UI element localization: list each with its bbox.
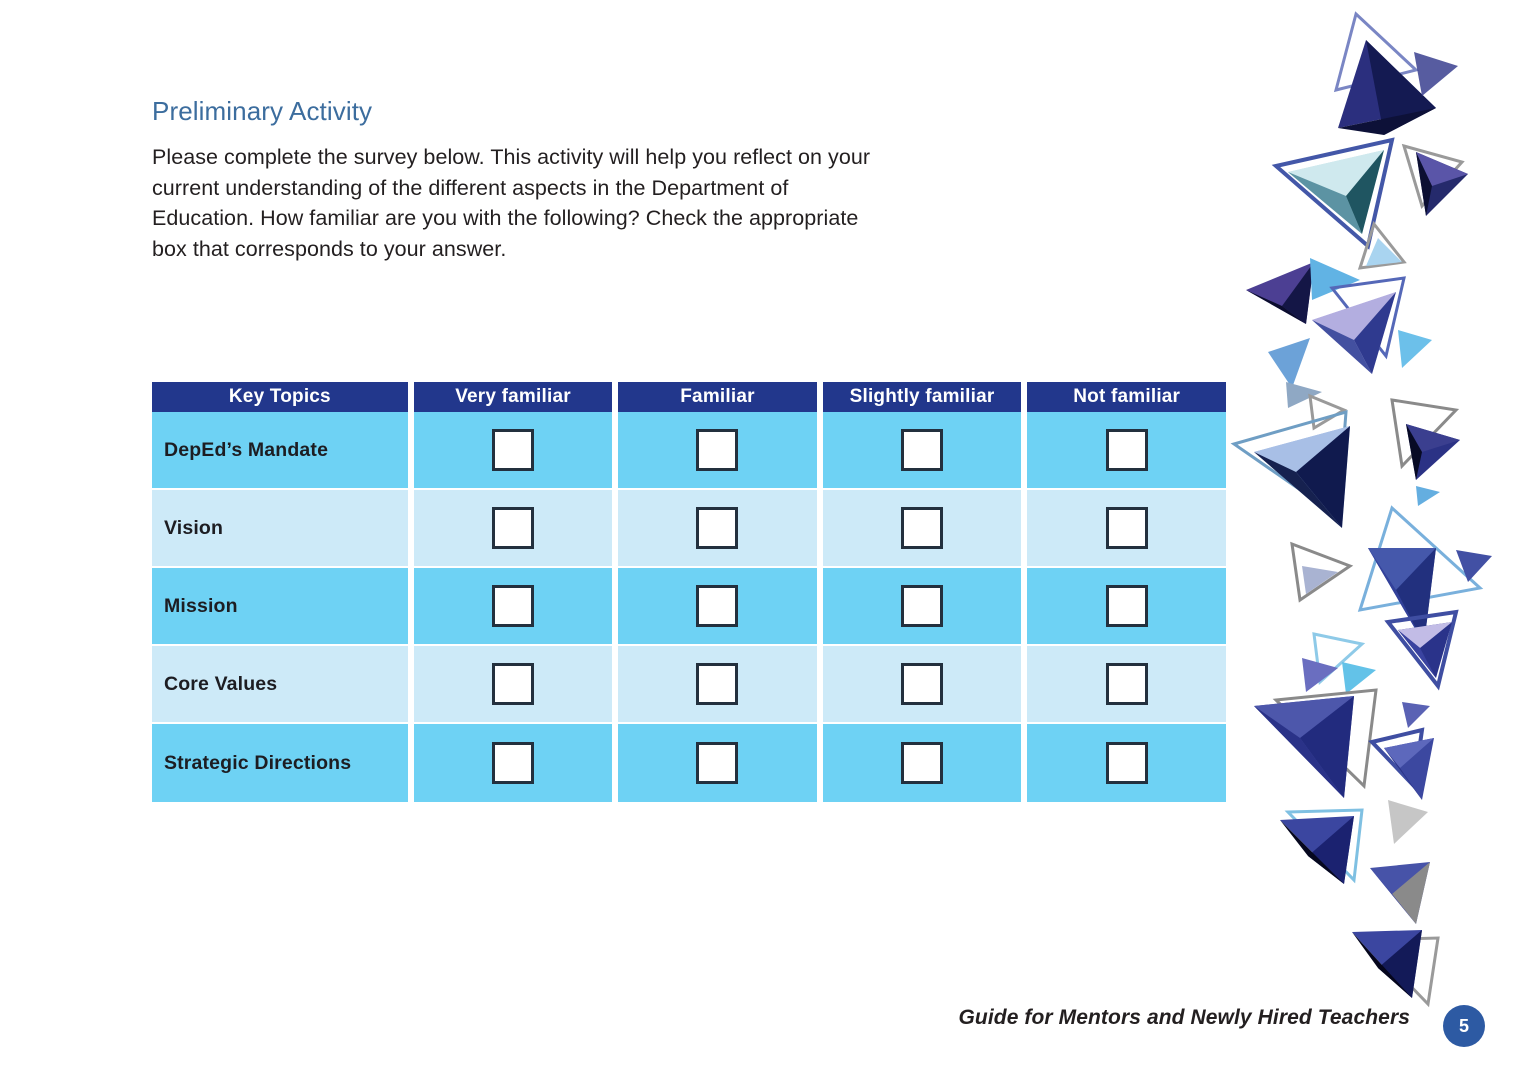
page-title: Preliminary Activity bbox=[152, 96, 372, 127]
table-row: Vision bbox=[152, 490, 1226, 568]
checkbox-icon[interactable] bbox=[1106, 429, 1148, 471]
checkbox-icon[interactable] bbox=[901, 585, 943, 627]
checkbox-cell-familiar[interactable] bbox=[618, 412, 816, 490]
row-topic-label: Strategic Directions bbox=[164, 752, 351, 774]
checkbox-icon[interactable] bbox=[492, 507, 534, 549]
checkbox-icon[interactable] bbox=[901, 507, 943, 549]
checkbox-icon[interactable] bbox=[492, 742, 534, 784]
row-topic-cell: DepEd’s Mandate bbox=[152, 412, 408, 490]
checkbox-cell-not-familiar[interactable] bbox=[1027, 568, 1226, 646]
checkbox-icon[interactable] bbox=[492, 663, 534, 705]
table-row: Mission bbox=[152, 568, 1226, 646]
checkbox-icon[interactable] bbox=[492, 585, 534, 627]
checkbox-icon[interactable] bbox=[696, 585, 738, 627]
column-header-familiar: Familiar bbox=[618, 382, 816, 412]
row-topic-label: Mission bbox=[164, 595, 238, 617]
checkbox-cell-very-familiar[interactable] bbox=[414, 490, 613, 568]
checkbox-cell-familiar[interactable] bbox=[618, 568, 816, 646]
table-row: Core Values bbox=[152, 646, 1226, 724]
column-header-not-familiar: Not familiar bbox=[1027, 382, 1226, 412]
row-topic-cell: Strategic Directions bbox=[152, 724, 408, 802]
checkbox-icon[interactable] bbox=[696, 742, 738, 784]
triangles-decoration-icon bbox=[1226, 0, 1536, 1010]
column-header-key-topics: Key Topics bbox=[152, 382, 408, 412]
checkbox-icon[interactable] bbox=[1106, 742, 1148, 784]
column-header-slightly-familiar: Slightly familiar bbox=[823, 382, 1022, 412]
row-topic-label: Vision bbox=[164, 517, 223, 539]
checkbox-cell-familiar[interactable] bbox=[618, 724, 816, 802]
checkbox-icon[interactable] bbox=[492, 429, 534, 471]
table-row: DepEd’s Mandate bbox=[152, 412, 1226, 490]
column-header-very-familiar: Very familiar bbox=[414, 382, 613, 412]
page-number-badge: 5 bbox=[1443, 1005, 1485, 1047]
checkbox-cell-not-familiar[interactable] bbox=[1027, 490, 1226, 568]
checkbox-icon[interactable] bbox=[1106, 507, 1148, 549]
checkbox-icon[interactable] bbox=[696, 663, 738, 705]
checkbox-cell-very-familiar[interactable] bbox=[414, 412, 613, 490]
row-topic-label: Core Values bbox=[164, 673, 277, 695]
checkbox-cell-slightly-familiar[interactable] bbox=[823, 646, 1022, 724]
table-row: Strategic Directions bbox=[152, 724, 1226, 802]
checkbox-cell-not-familiar[interactable] bbox=[1027, 412, 1226, 490]
checkbox-cell-very-familiar[interactable] bbox=[414, 724, 613, 802]
row-topic-cell: Vision bbox=[152, 490, 408, 568]
document-page: Preliminary Activity Please complete the… bbox=[0, 0, 1536, 1086]
checkbox-icon[interactable] bbox=[696, 507, 738, 549]
checkbox-cell-not-familiar[interactable] bbox=[1027, 724, 1226, 802]
checkbox-cell-slightly-familiar[interactable] bbox=[823, 490, 1022, 568]
checkbox-icon[interactable] bbox=[901, 742, 943, 784]
checkbox-icon[interactable] bbox=[1106, 585, 1148, 627]
checkbox-cell-very-familiar[interactable] bbox=[414, 646, 613, 724]
footer-title: Guide for Mentors and Newly Hired Teache… bbox=[958, 1006, 1410, 1030]
checkbox-icon[interactable] bbox=[901, 663, 943, 705]
table-header: Key Topics Very familiar Familiar Slight… bbox=[152, 382, 1226, 412]
row-topic-cell: Core Values bbox=[152, 646, 408, 724]
table-body: DepEd’s Mandate bbox=[152, 412, 1226, 802]
checkbox-cell-slightly-familiar[interactable] bbox=[823, 568, 1022, 646]
checkbox-icon[interactable] bbox=[696, 429, 738, 471]
checkbox-icon[interactable] bbox=[1106, 663, 1148, 705]
checkbox-cell-slightly-familiar[interactable] bbox=[823, 412, 1022, 490]
checkbox-icon[interactable] bbox=[901, 429, 943, 471]
row-topic-cell: Mission bbox=[152, 568, 408, 646]
checkbox-cell-familiar[interactable] bbox=[618, 646, 816, 724]
row-topic-label: DepEd’s Mandate bbox=[164, 439, 328, 461]
checkbox-cell-very-familiar[interactable] bbox=[414, 568, 613, 646]
checkbox-cell-slightly-familiar[interactable] bbox=[823, 724, 1022, 802]
survey-table: Key Topics Very familiar Familiar Slight… bbox=[152, 382, 1226, 802]
checkbox-cell-familiar[interactable] bbox=[618, 490, 816, 568]
instructions-paragraph: Please complete the survey below. This a… bbox=[152, 142, 872, 264]
table-header-row: Key Topics Very familiar Familiar Slight… bbox=[152, 382, 1226, 412]
checkbox-cell-not-familiar[interactable] bbox=[1027, 646, 1226, 724]
